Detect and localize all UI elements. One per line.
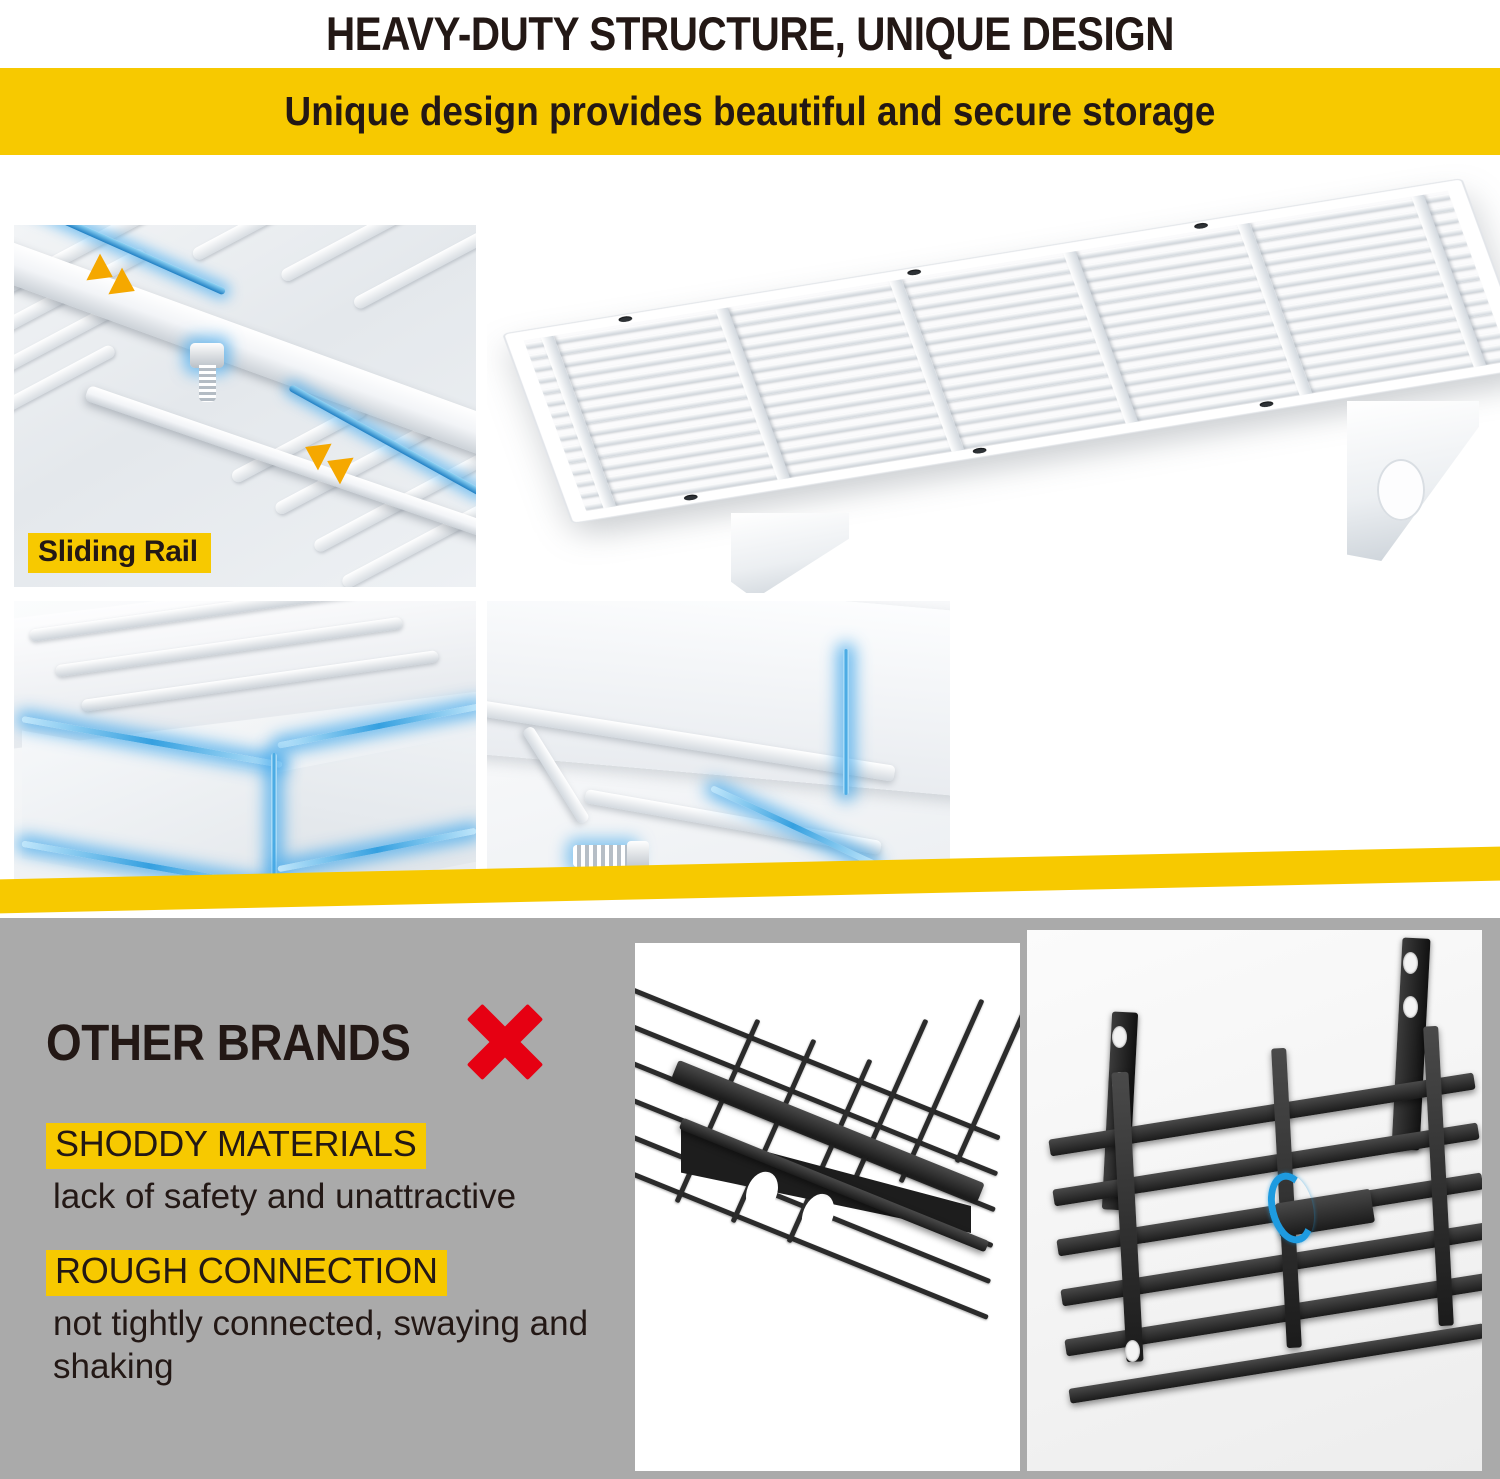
corner-edge-panel	[14, 601, 476, 889]
bullet-body: not tightly connected, swaying and shaki…	[53, 1303, 613, 1388]
page-title: HEAVY-DUTY STRUCTURE, UNIQUE DESIGN	[105, 0, 1395, 66]
shelf-bracket-left	[731, 513, 849, 593]
corner-glow-vertical	[271, 753, 277, 885]
bullet-body: lack of safety and unattractive	[53, 1176, 516, 1219]
bullet-shoddy-materials: SHODDY MATERIALS lack of safety and unat…	[46, 1123, 516, 1219]
bullet-rough-connection: ROUGH CONNECTION not tightly connected, …	[46, 1250, 613, 1388]
header-banner: HEAVY-DUTY STRUCTURE, UNIQUE DESIGN Uniq…	[0, 0, 1500, 163]
subtitle-bar: Unique design provides beautiful and sec…	[0, 68, 1500, 155]
bracket-cutout	[1377, 459, 1425, 521]
comparison-section: OTHER BRANDS SHODDY MATERIALS lack of sa…	[0, 918, 1500, 1479]
bolt-glow-vertical	[843, 649, 849, 795]
bolt-shaft	[199, 365, 216, 402]
x-mark-icon	[469, 1006, 541, 1078]
competitor-bracket-panel	[1027, 930, 1482, 1471]
bolt-connection-panel	[487, 601, 950, 889]
screw-thread	[573, 845, 633, 867]
sliding-rail-caption: Sliding Rail	[28, 533, 211, 573]
other-brands-title: OTHER BRANDS	[46, 1006, 541, 1078]
feature-image-area: Sliding Rail	[0, 163, 1500, 923]
sliding-rail-panel: Sliding Rail	[14, 225, 476, 587]
hero-product-panel: AECXM	[487, 163, 1500, 593]
bullet-heading: SHODDY MATERIALS	[46, 1123, 426, 1169]
hero-stage: AECXM	[487, 163, 1500, 593]
loose-connection-highlight-icon	[1261, 1168, 1321, 1249]
competitor-mesh-panel	[635, 943, 1020, 1471]
bullet-heading: ROUGH CONNECTION	[46, 1250, 447, 1296]
page-subtitle: Unique design provides beautiful and sec…	[75, 68, 1425, 155]
other-brands-label: OTHER BRANDS	[46, 1013, 410, 1072]
